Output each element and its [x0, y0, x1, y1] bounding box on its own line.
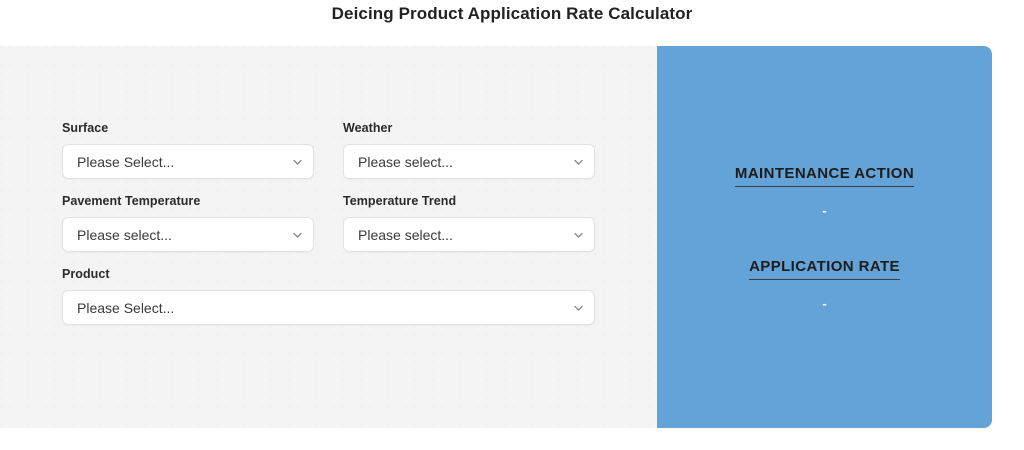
- select-wrap-weather: Please select...: [343, 144, 595, 179]
- select-pavement-temperature[interactable]: Please select...: [62, 217, 314, 252]
- form-pane: Surface Please Select... Weather: [0, 46, 657, 428]
- field-pavement-temperature: Pavement Temperature Please select...: [62, 193, 314, 252]
- field-row: Product Please Select...: [62, 266, 595, 325]
- field-surface: Surface Please Select...: [62, 120, 314, 179]
- form-grid: Surface Please Select... Weather: [62, 120, 595, 339]
- field-label-weather: Weather: [343, 120, 595, 136]
- calculator-page: Deicing Product Application Rate Calcula…: [0, 0, 1024, 450]
- result-value-maintenance-action: -: [657, 203, 992, 218]
- field-label-pavement-temperature: Pavement Temperature: [62, 193, 314, 209]
- result-heading-maintenance-action: MAINTENANCE ACTION: [735, 164, 914, 187]
- results-panel: MAINTENANCE ACTION - APPLICATION RATE -: [657, 46, 992, 428]
- select-wrap-pavement-temperature: Please select...: [62, 217, 314, 252]
- field-label-product: Product: [62, 266, 595, 282]
- calculator-card: Surface Please Select... Weather: [0, 46, 992, 428]
- result-application-rate: APPLICATION RATE -: [657, 257, 992, 311]
- field-label-temperature-trend: Temperature Trend: [343, 193, 595, 209]
- field-weather: Weather Please select...: [343, 120, 595, 179]
- select-temperature-trend[interactable]: Please select...: [343, 217, 595, 252]
- field-product: Product Please Select...: [62, 266, 595, 325]
- result-value-application-rate: -: [657, 296, 992, 311]
- result-maintenance-action: MAINTENANCE ACTION -: [657, 164, 992, 218]
- select-product[interactable]: Please Select...: [62, 290, 595, 325]
- field-row: Surface Please Select... Weather: [62, 120, 595, 179]
- select-wrap-temperature-trend: Please select...: [343, 217, 595, 252]
- result-heading-application-rate: APPLICATION RATE: [749, 257, 900, 280]
- field-label-surface: Surface: [62, 120, 314, 136]
- field-row: Pavement Temperature Please select... Te…: [62, 193, 595, 252]
- select-wrap-surface: Please Select...: [62, 144, 314, 179]
- field-temperature-trend: Temperature Trend Please select...: [343, 193, 595, 252]
- select-wrap-product: Please Select...: [62, 290, 595, 325]
- select-weather[interactable]: Please select...: [343, 144, 595, 179]
- page-title: Deicing Product Application Rate Calcula…: [0, 2, 1024, 26]
- select-surface[interactable]: Please Select...: [62, 144, 314, 179]
